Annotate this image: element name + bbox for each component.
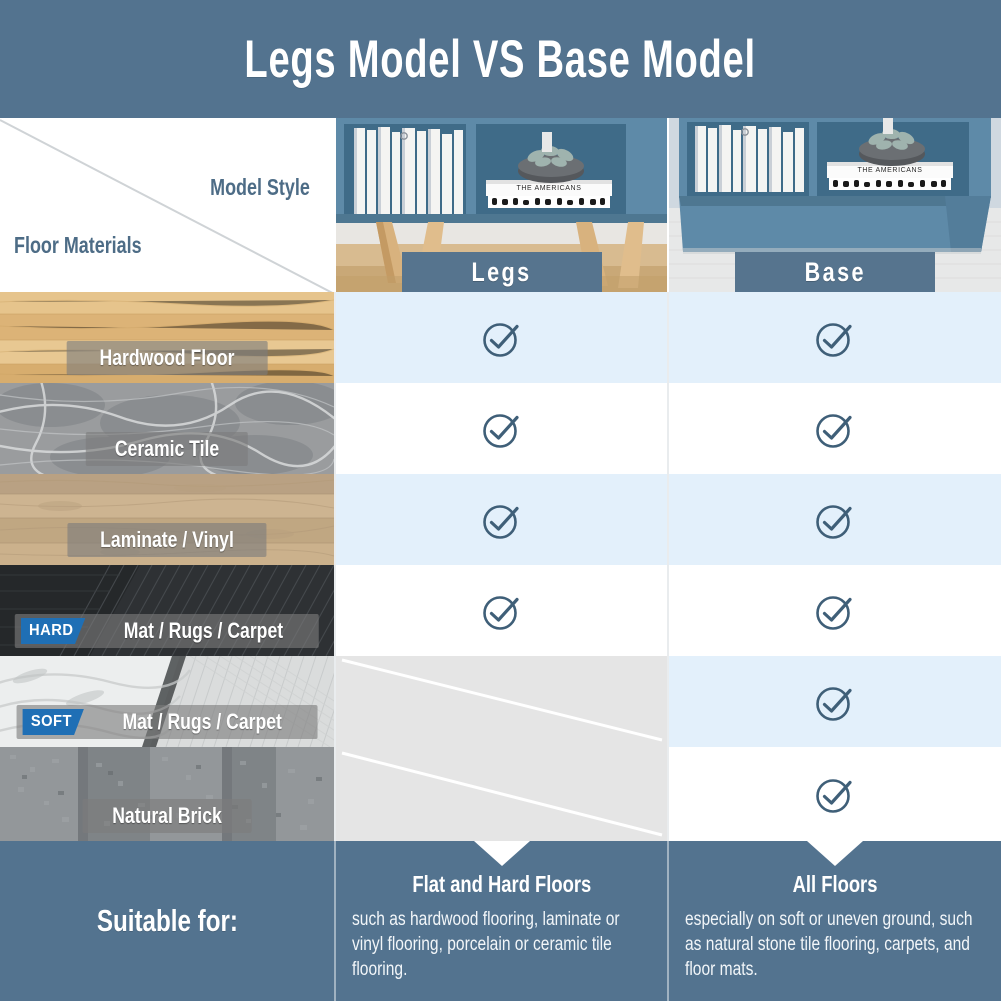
base-summary-cell: All Floors especially on soft or uneven … xyxy=(669,841,1001,1001)
diagonal-strike-icon xyxy=(336,656,667,747)
legs-photo-cell: THE AMERICANS Legs xyxy=(336,118,667,292)
check-circle-icon xyxy=(477,586,527,636)
material-swatch-hardwood-floor: Hardwood Floor xyxy=(0,292,334,383)
hard-badge: HARD xyxy=(21,618,86,644)
base-cell-soft-carpet xyxy=(669,656,1001,747)
base-photo-cell: THE AMERICANS Base xyxy=(669,118,1001,292)
legs-cell-soft-carpet-unavailable xyxy=(336,656,667,747)
check-circle-icon xyxy=(810,313,860,363)
suitable-for-cell: Suitable for: xyxy=(0,841,334,1001)
legs-cell-natural-brick-unavailable xyxy=(336,747,667,841)
base-summary-body: especially on soft or uneven ground, suc… xyxy=(685,907,987,982)
model-style-label: Model Style xyxy=(210,174,310,201)
material-swatch-soft-carpet: SOFT Mat / Rugs / Carpet xyxy=(0,656,334,747)
base-cell-hardwood-floor xyxy=(669,292,1001,383)
base-cell-ceramic-tile xyxy=(669,383,1001,474)
footer-bar: Suitable for: Flat and Hard Floors such … xyxy=(0,841,1001,1001)
svg-text:THE AMERICANS: THE AMERICANS xyxy=(517,185,582,192)
base-column-label-band: Base xyxy=(735,252,935,292)
check-circle-icon xyxy=(810,404,860,454)
legs-summary-heading: Flat and Hard Floors xyxy=(336,871,667,898)
material-swatch-natural-brick: Natural Brick xyxy=(0,747,334,841)
check-circle-icon xyxy=(477,404,527,454)
floor-materials-label: Floor Materials xyxy=(14,232,142,259)
legs-summary-body: such as hardwood flooring, laminate or v… xyxy=(352,907,653,982)
diagonal-strike-icon xyxy=(336,747,667,841)
comparison-chart: Legs Model VS Base Model Model Style Flo… xyxy=(0,0,1001,1001)
material-label-band: Ceramic Tile xyxy=(86,432,248,466)
base-summary-heading: All Floors xyxy=(669,871,1001,898)
legs-column-label: Legs xyxy=(471,257,531,288)
legs-summary-cell: Flat and Hard Floors such as hardwood fl… xyxy=(336,841,667,1001)
base-column-label: Base xyxy=(804,257,865,288)
material-label: Hardwood Floor xyxy=(100,345,235,371)
material-label-band: Natural Brick xyxy=(83,799,252,833)
suitable-for-label: Suitable for: xyxy=(96,903,237,939)
material-label: Ceramic Tile xyxy=(115,436,219,462)
page-title-bar: Legs Model VS Base Model xyxy=(0,0,1001,118)
diagonal-divider-line-icon xyxy=(0,118,334,292)
check-circle-icon xyxy=(477,495,527,545)
legs-cell-hard-mat xyxy=(336,565,667,656)
header-divider-2 xyxy=(667,118,669,292)
legs-cell-hardwood-floor xyxy=(336,292,667,383)
base-cell-laminate-vinyl xyxy=(669,474,1001,565)
material-swatch-laminate-vinyl: Laminate / Vinyl xyxy=(0,474,334,565)
check-circle-icon xyxy=(810,495,860,545)
material-label-band: Laminate / Vinyl xyxy=(67,523,266,557)
check-circle-icon xyxy=(477,313,527,363)
material-label-band: HARD Mat / Rugs / Carpet xyxy=(15,614,319,648)
material-label: Mat / Rugs / Carpet xyxy=(124,618,283,644)
material-swatch-ceramic-tile: Ceramic Tile xyxy=(0,383,334,474)
soft-badge: SOFT xyxy=(23,709,84,735)
pointer-notch-icon xyxy=(807,841,863,866)
legs-cell-ceramic-tile xyxy=(336,383,667,474)
corner-header-cell: Model Style Floor Materials xyxy=(0,118,334,292)
legs-cell-laminate-vinyl xyxy=(336,474,667,565)
pointer-notch-icon xyxy=(474,841,530,866)
check-circle-icon xyxy=(810,769,860,819)
material-swatch-hard-mat: HARD Mat / Rugs / Carpet xyxy=(0,565,334,656)
page-title: Legs Model VS Base Model xyxy=(245,29,756,90)
material-label: Natural Brick xyxy=(112,803,222,829)
material-label-band: SOFT Mat / Rugs / Carpet xyxy=(17,705,318,739)
legs-column-label-band: Legs xyxy=(402,252,602,292)
header-divider-1 xyxy=(334,118,336,292)
material-label-band: Hardwood Floor xyxy=(67,341,268,375)
column-divider-2 xyxy=(667,292,669,841)
check-circle-icon xyxy=(810,586,860,636)
material-label: Laminate / Vinyl xyxy=(100,527,234,553)
svg-text:THE AMERICANS: THE AMERICANS xyxy=(858,167,923,174)
base-cell-hard-mat xyxy=(669,565,1001,656)
material-label: Mat / Rugs / Carpet xyxy=(122,709,281,735)
check-circle-icon xyxy=(810,677,860,727)
base-cell-natural-brick xyxy=(669,747,1001,841)
column-divider-1 xyxy=(334,292,336,841)
